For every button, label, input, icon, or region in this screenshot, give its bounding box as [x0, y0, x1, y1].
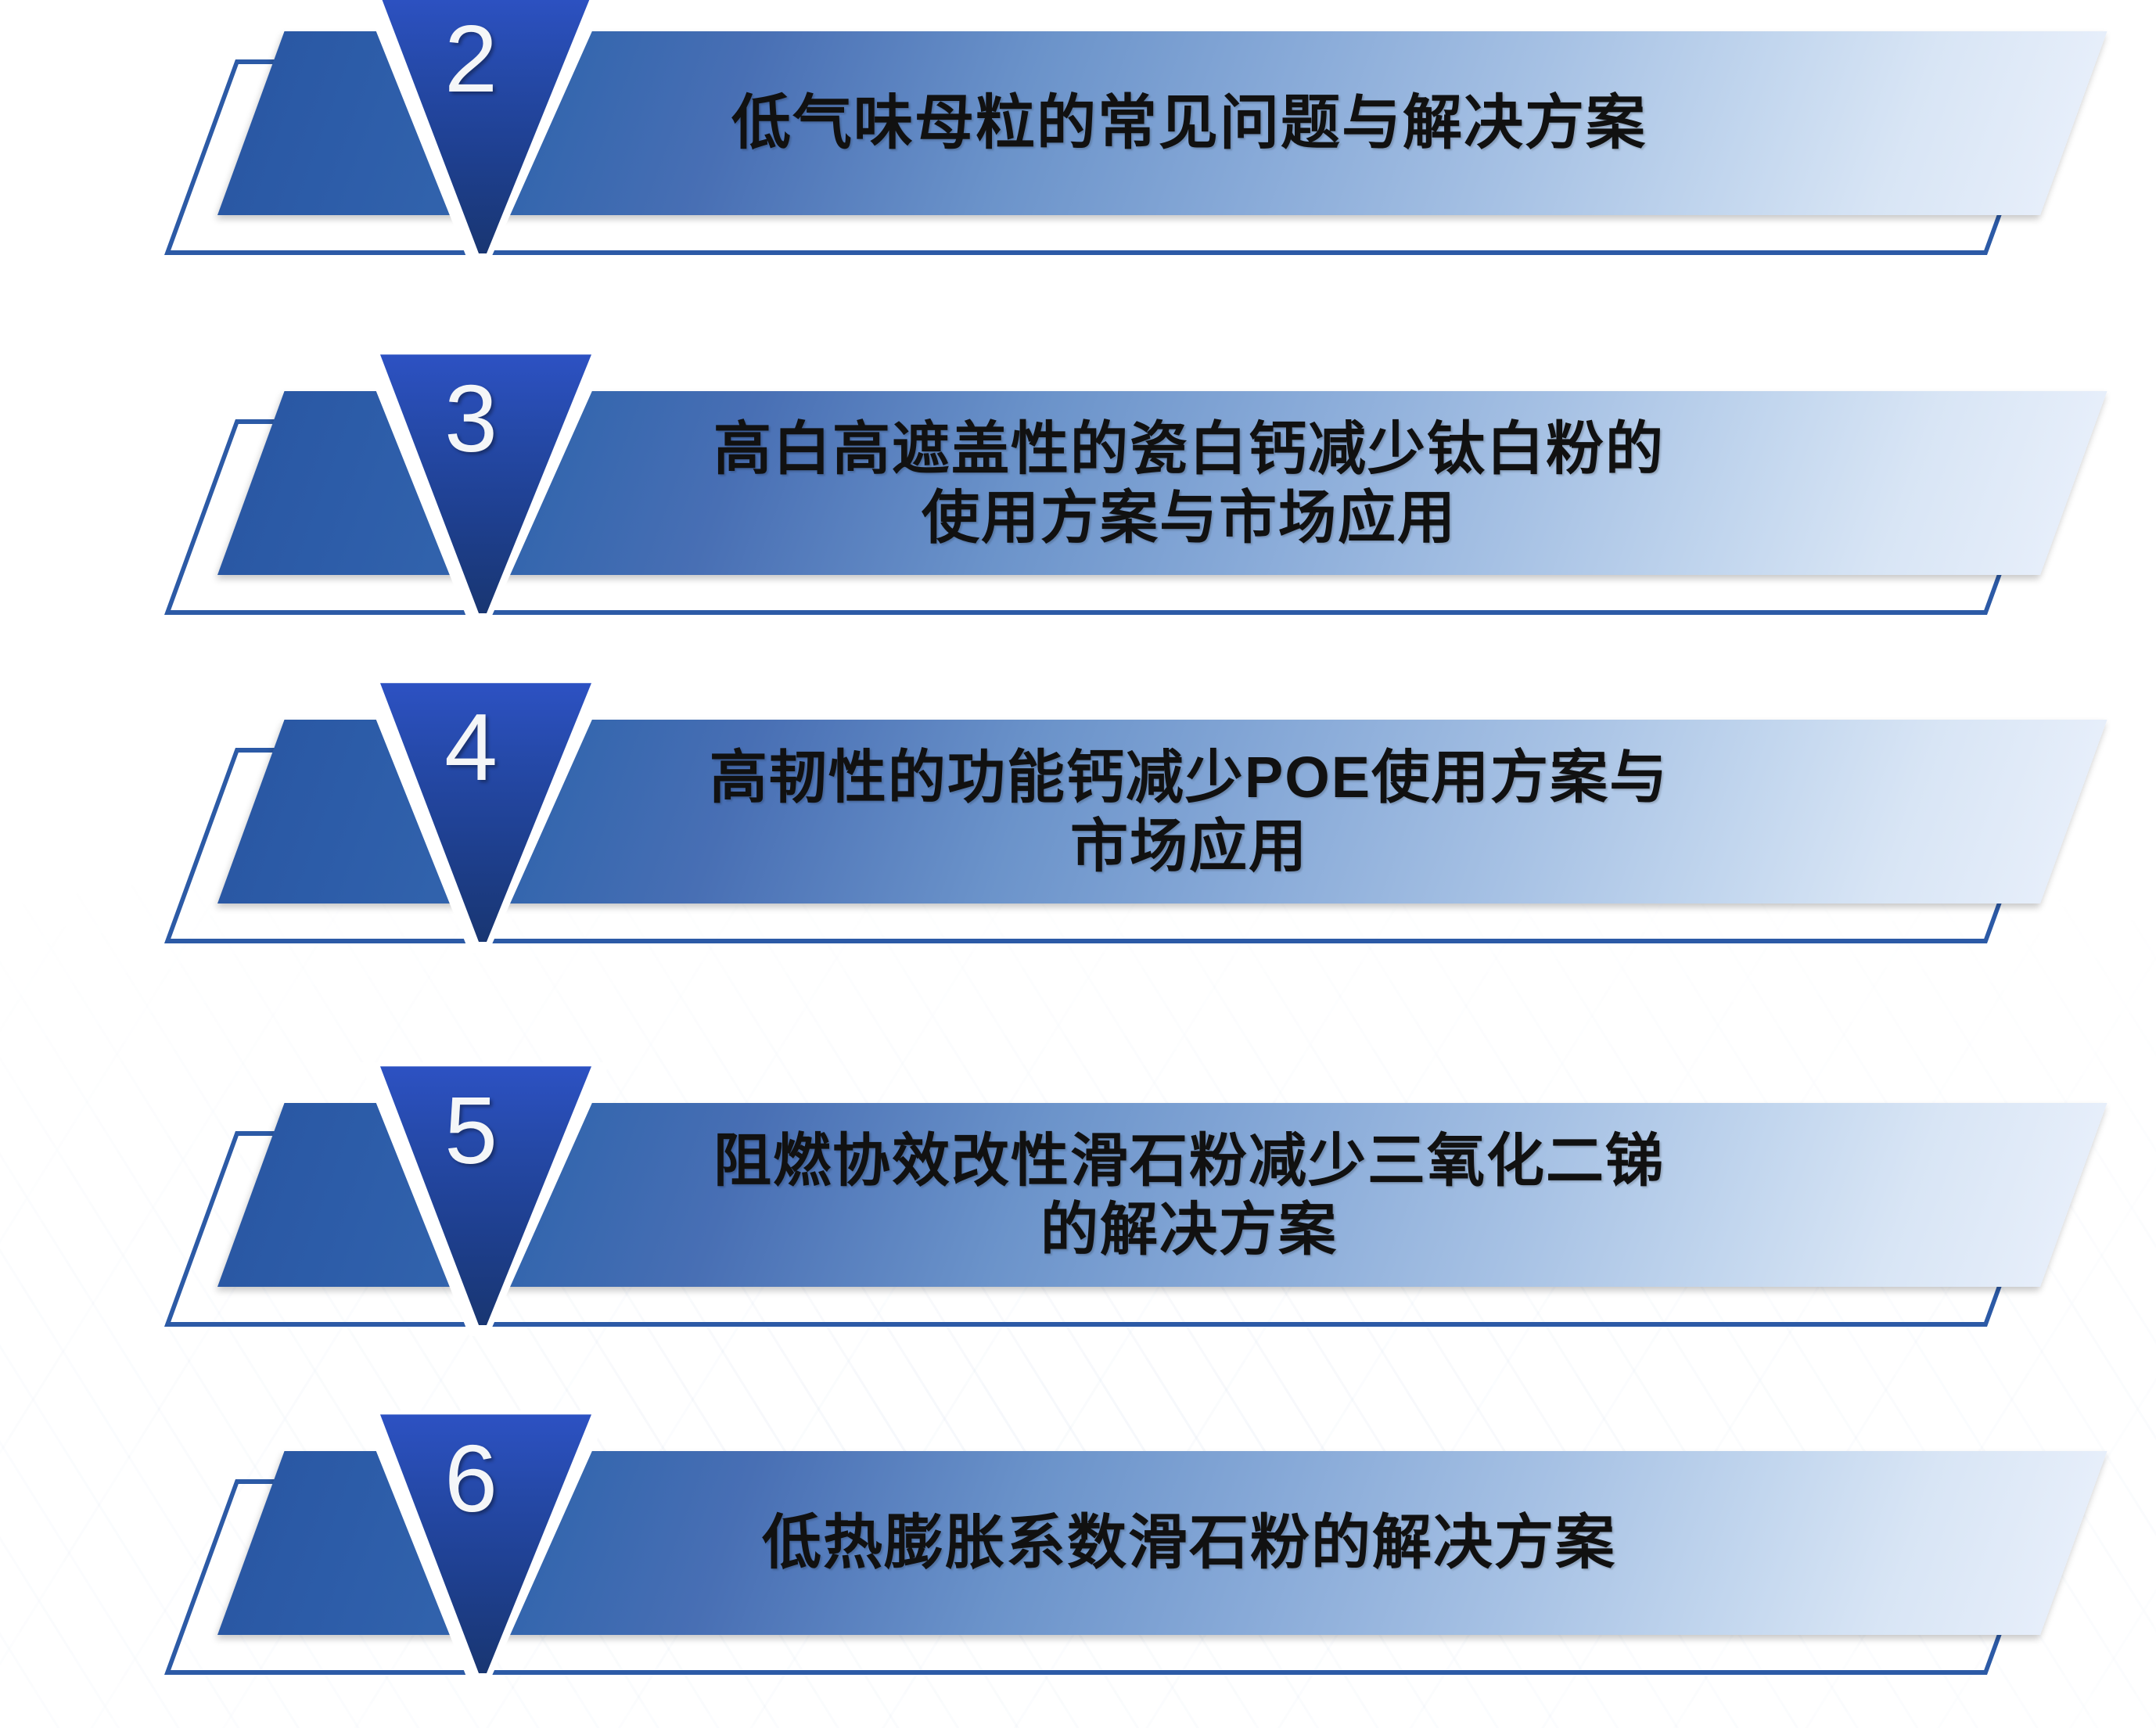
- number-badge: 4: [297, 679, 610, 953]
- item-number: 6: [297, 1431, 610, 1526]
- number-badge: 5: [297, 1062, 610, 1336]
- agenda-row-5[interactable]: 6 低热膨胀系数滑石粉的解决方案: [0, 1451, 2156, 1686]
- item-number: 4: [297, 699, 610, 795]
- agenda-row-2[interactable]: 3 高白高遮盖性的瓷白钙减少钛白粉的 使用方案与市场应用: [0, 391, 2156, 626]
- number-badge: 2: [297, 0, 610, 264]
- item-number: 2: [297, 11, 610, 106]
- number-badge: 6: [297, 1410, 610, 1684]
- item-number: 5: [297, 1083, 610, 1178]
- item-number: 3: [297, 371, 610, 466]
- number-badge: 3: [297, 350, 610, 624]
- agenda-row-4[interactable]: 5 阻燃协效改性滑石粉减少三氧化二锑 的解决方案: [0, 1103, 2156, 1338]
- agenda-row-1[interactable]: 2 低气味母粒的常见问题与解决方案: [0, 31, 2156, 266]
- agenda-row-3[interactable]: 4 高韧性的功能钙减少POE使用方案与 市场应用: [0, 720, 2156, 954]
